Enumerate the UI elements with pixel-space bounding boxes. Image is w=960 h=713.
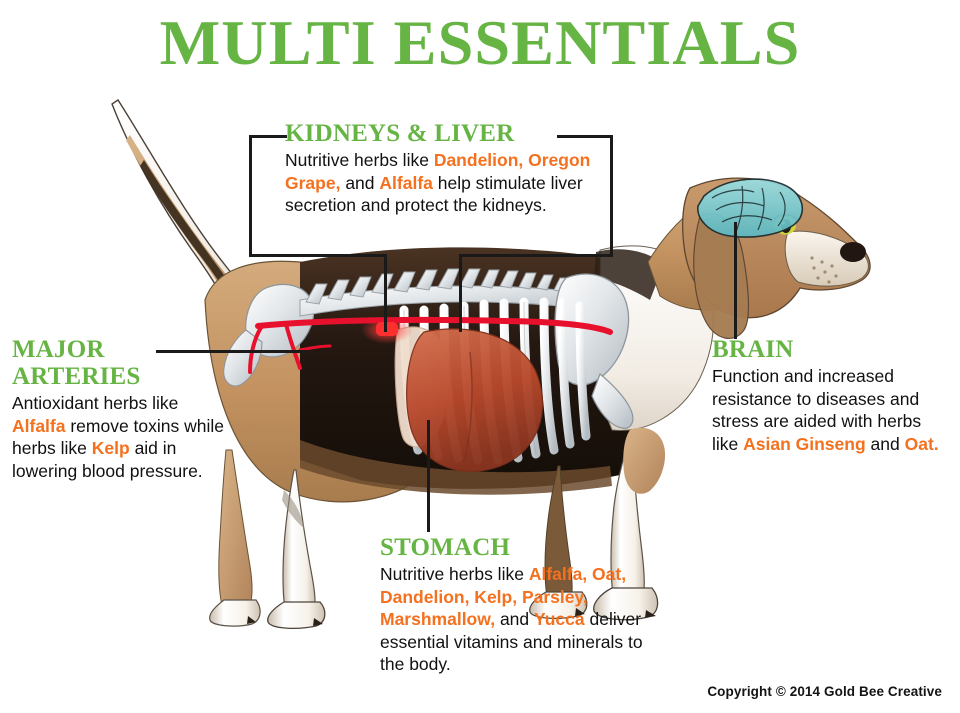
leader-brain — [734, 222, 737, 339]
herb-highlight: Kelp — [92, 438, 130, 458]
herb-highlight: Oat. — [905, 434, 939, 454]
callout-kidneys-heading: KIDNEYS & LIVER — [285, 120, 605, 147]
infographic-canvas: MULTI ESSENTIALS KIDNEYS & LIVER Nutriti… — [0, 0, 960, 713]
herb-highlight: Alfalfa — [379, 173, 432, 193]
callout-kidneys-liver: KIDNEYS & LIVER Nutritive herbs like Dan… — [285, 120, 605, 217]
leader-stomach — [427, 420, 430, 532]
leader-kidneys-right-vertical — [610, 135, 613, 257]
callout-arteries-heading: MAJOR ARTERIES — [12, 336, 227, 390]
leader-kidneys-left-vertical — [249, 135, 252, 257]
leader-kidneys-drop-left — [384, 254, 387, 332]
leader-kidneys-top-left — [249, 135, 287, 138]
leader-kidneys-bottom-right — [459, 254, 613, 257]
leader-kidneys-bottom-left — [249, 254, 387, 257]
callout-stomach: STOMACH Nutritive herbs like Alfalfa, Oa… — [380, 534, 670, 676]
callout-stomach-heading: STOMACH — [380, 534, 670, 561]
page-title: MULTI ESSENTIALS — [0, 8, 960, 78]
copyright-notice: Copyright © 2014 Gold Bee Creative — [707, 684, 942, 699]
callout-brain-heading: BRAIN — [712, 336, 950, 363]
herb-highlight: Asian Ginseng — [743, 434, 866, 454]
leader-kidneys-drop-right — [459, 254, 462, 332]
herb-highlight: Alfalfa — [12, 416, 65, 436]
nose — [840, 242, 866, 262]
callout-brain: BRAIN Function and increased resistance … — [712, 336, 950, 455]
callout-stomach-body: Nutritive herbs like Alfalfa, Oat, Dande… — [380, 563, 670, 676]
front-leg-near-upper — [623, 428, 665, 494]
callout-major-arteries: MAJOR ARTERIES Antioxidant herbs like Al… — [12, 336, 227, 482]
herb-highlight: Yucca — [534, 609, 585, 629]
callout-brain-body: Function and increased resistance to dis… — [712, 365, 950, 455]
callout-kidneys-body: Nutritive herbs like Dandelion, Oregon G… — [285, 149, 605, 217]
callout-arteries-body: Antioxidant herbs like Alfalfa remove to… — [12, 392, 227, 482]
